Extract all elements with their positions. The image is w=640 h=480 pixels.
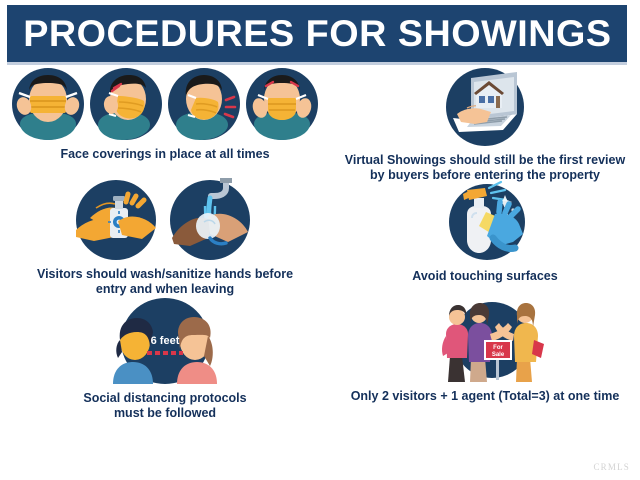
svg-text:Sale: Sale (492, 352, 505, 358)
caption-avoid-surfaces: Avoid touching surfaces (412, 269, 557, 284)
page-header: PROCEDURES FOR SHOWINGS (7, 5, 627, 62)
three-people-for-sale-sign-icon: For Sale (422, 296, 548, 384)
procedure-item-face-coverings: Face coverings in place at all times (0, 66, 330, 178)
procedure-item-avoid-surfaces: Avoid touching surfaces (330, 178, 640, 296)
for-sale-sign-text: For (493, 345, 503, 351)
distance-label: 6 feet (151, 335, 180, 347)
page-title: PROCEDURES FOR SHOWINGS (23, 15, 611, 52)
procedure-item-virtual-showings: Virtual Showings should still be the fir… (330, 66, 640, 178)
procedure-item-wash-hands: Visitors should wash/sanitize hands befo… (0, 178, 330, 296)
caption-social-distancing: Social distancing protocols must be foll… (83, 391, 246, 421)
header-underline (7, 62, 627, 65)
caption-face-coverings: Face coverings in place at all times (60, 147, 269, 162)
watermark: CRMLS (593, 462, 630, 472)
procedure-item-visitor-limit: For Sale Only 2 visitors + 1 agent (Tota… (330, 296, 640, 414)
caption-wash-hands: Visitors should wash/sanitize hands befo… (37, 267, 293, 297)
spray-bottle-glove-icon (441, 178, 529, 264)
two-people-distance-icon: 6 feet (103, 296, 227, 386)
procedures-grid: Face coverings in place at all times (0, 66, 640, 456)
caption-visitor-limit: Only 2 visitors + 1 agent (Total=3) at o… (351, 389, 620, 404)
procedure-item-social-distancing: 6 feet Social distancing protocols must … (0, 296, 330, 414)
hand-sanitize-and-wash-icon (70, 178, 260, 262)
four-masked-faces-icon (10, 66, 320, 142)
laptop-house-icon (443, 66, 527, 148)
